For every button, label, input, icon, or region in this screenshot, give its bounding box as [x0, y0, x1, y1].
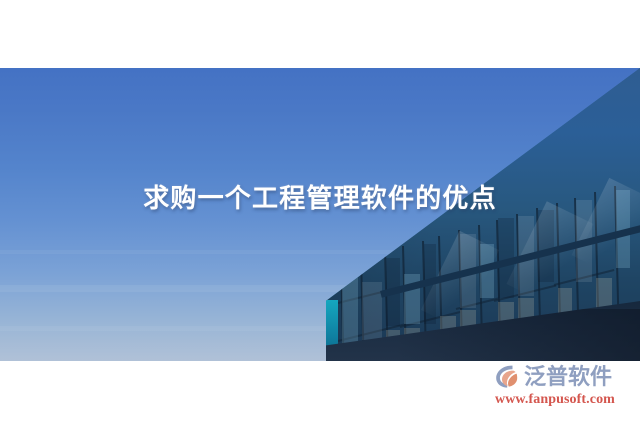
brand-name: 泛普软件	[524, 366, 612, 388]
brand-logo-row: 泛普软件	[493, 363, 612, 390]
brand-url[interactable]: www.fanpusoft.com	[495, 392, 615, 408]
banner-page: 求购一个工程管理软件的优点 泛普软件 www.fanpusoft.com	[0, 0, 640, 427]
page-title: 求购一个工程管理软件的优点	[0, 185, 640, 211]
brand-logo[interactable]: 泛普软件 www.fanpusoft.com	[493, 363, 633, 413]
fanpu-swoosh-icon	[493, 363, 520, 390]
hero-image: 求购一个工程管理软件的优点	[0, 68, 640, 361]
